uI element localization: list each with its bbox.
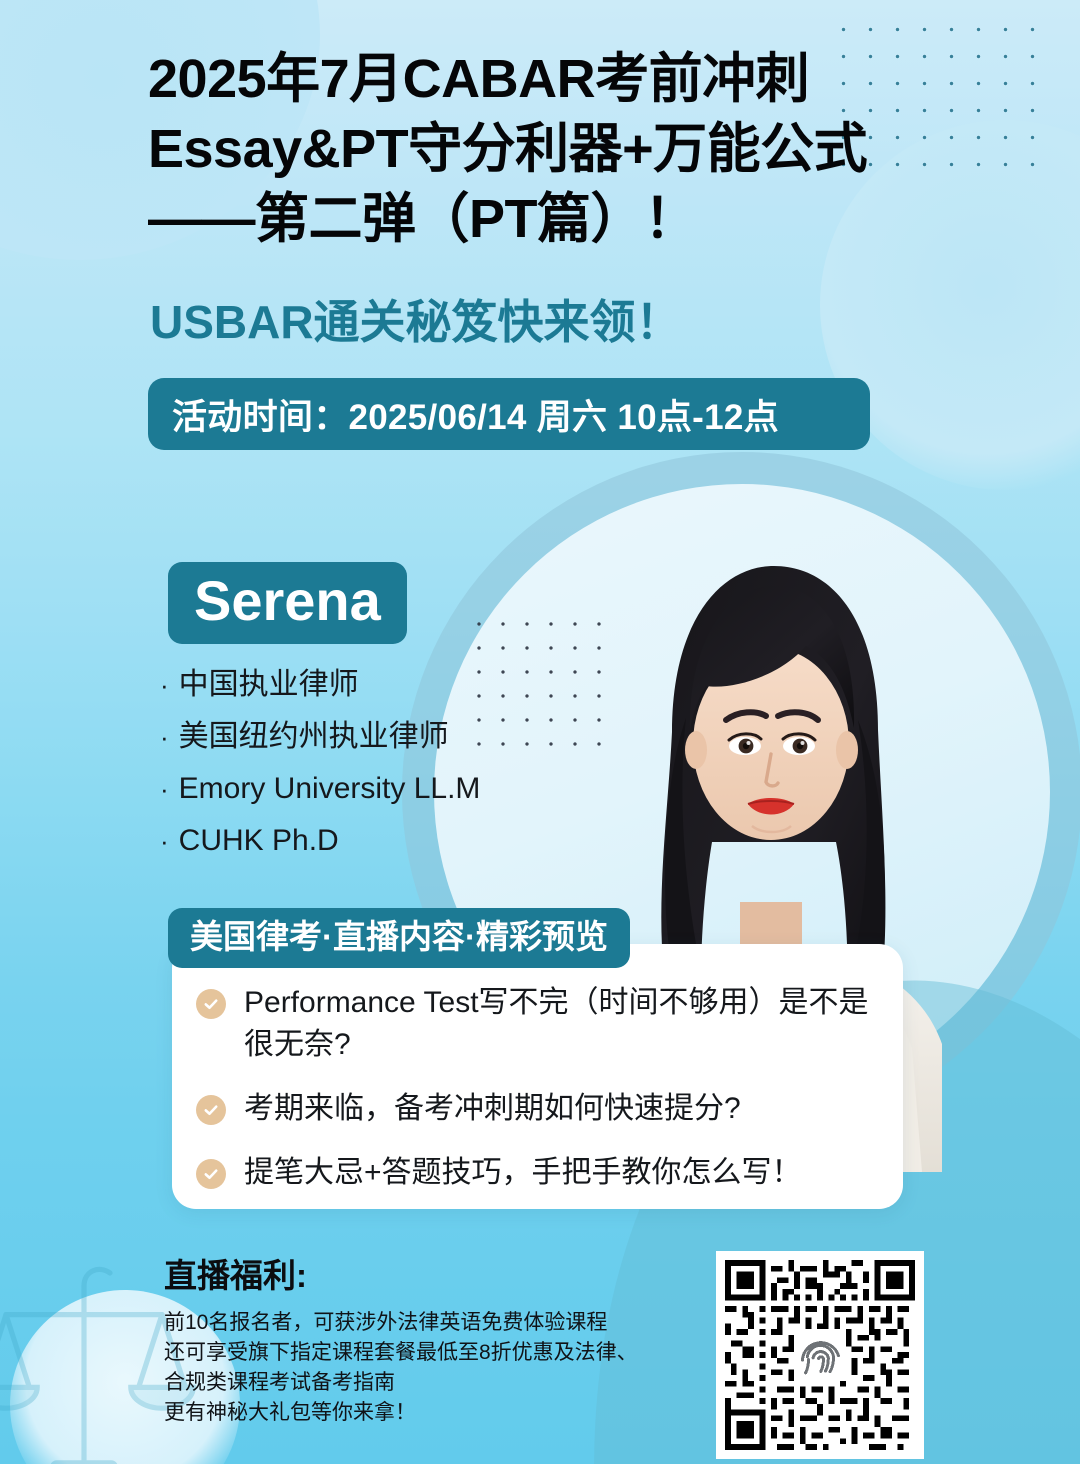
list-item: Performance Test写不完（时间不够用）是不是很无奈? [196,982,886,1066]
list-item: · 美国纽约州执业律师 [160,716,580,758]
check-circle-icon [196,1095,226,1125]
qr-code[interactable] [716,1251,924,1459]
title-line-1: 2025年7月CABAR考前冲刺 [148,44,988,114]
list-item: · 中国执业律师 [160,664,580,706]
check-circle-icon [196,989,226,1019]
check-circle-icon [196,1159,226,1189]
benefit-line: 前10名报名者，可获涉外法律英语免费体验课程 [164,1308,684,1338]
credential-label: CUHK Ph.D [179,820,339,862]
benefits-title: 直播福利: [164,1254,684,1298]
list-item: 考期来临，备考冲刺期如何快速提分? [196,1088,886,1130]
speaker-name-badge: Serena [168,562,407,644]
bullet-dot-icon: · [160,769,169,809]
title-line-3: ——第二弹（PT篇）！ [148,184,988,254]
title-line-2: Essay&PT守分利器+万能公式 [148,114,988,184]
benefit-line: 合规类课程考试备考指南 [164,1368,684,1398]
event-time-label: 活动时间：2025/06/14 周六 10点-12点 [172,389,779,440]
preview-header-label: 美国律考·直播内容·精彩预览 [190,918,608,955]
preview-bullet-label: 提笔大忌+答题技巧，手把手教你怎么写！ [244,1152,802,1194]
poster-root: 2025年7月CABAR考前冲刺 Essay&PT守分利器+万能公式 ——第二弹… [0,0,1080,1464]
speaker-credentials-list: · 中国执业律师 · 美国纽约州执业律师 · Emory University … [160,664,580,872]
page-title: 2025年7月CABAR考前冲刺 Essay&PT守分利器+万能公式 ——第二弹… [148,44,988,254]
list-item: 提笔大忌+答题技巧，手把手教你怎么写！ [196,1152,886,1194]
benefits-section: 直播福利: 前10名报名者，可获涉外法律英语免费体验课程 还可享受旗下指定课程套… [164,1254,684,1428]
preview-bullet-list: Performance Test写不完（时间不够用）是不是很无奈? 考期来临，备… [196,982,886,1216]
list-item: · Emory University LL.M [160,768,580,810]
preview-bullet-label: Performance Test写不完（时间不够用）是不是很无奈? [244,982,886,1066]
bullet-dot-icon: · [160,665,169,705]
bullet-dot-icon: · [160,821,169,861]
list-item: · CUHK Ph.D [160,820,580,862]
speaker-name: Serena [194,569,381,632]
bullet-dot-icon: · [160,717,169,757]
benefit-line: 更有神秘大礼包等你来拿！ [164,1398,684,1428]
credential-label: 中国执业律师 [179,664,359,706]
page-subtitle: USBAR通关秘笈快来领！ [150,294,682,350]
credential-label: 美国纽约州执业律师 [179,716,449,758]
credential-label: Emory University LL.M [179,768,481,810]
event-time-banner: 活动时间：2025/06/14 周六 10点-12点 [148,378,870,450]
preview-bullet-label: 考期来临，备考冲刺期如何快速提分? [244,1088,741,1130]
benefit-line: 还可享受旗下指定课程套餐最低至8折优惠及法律、 [164,1338,684,1368]
preview-header-badge: 美国律考·直播内容·精彩预览 [168,908,630,968]
